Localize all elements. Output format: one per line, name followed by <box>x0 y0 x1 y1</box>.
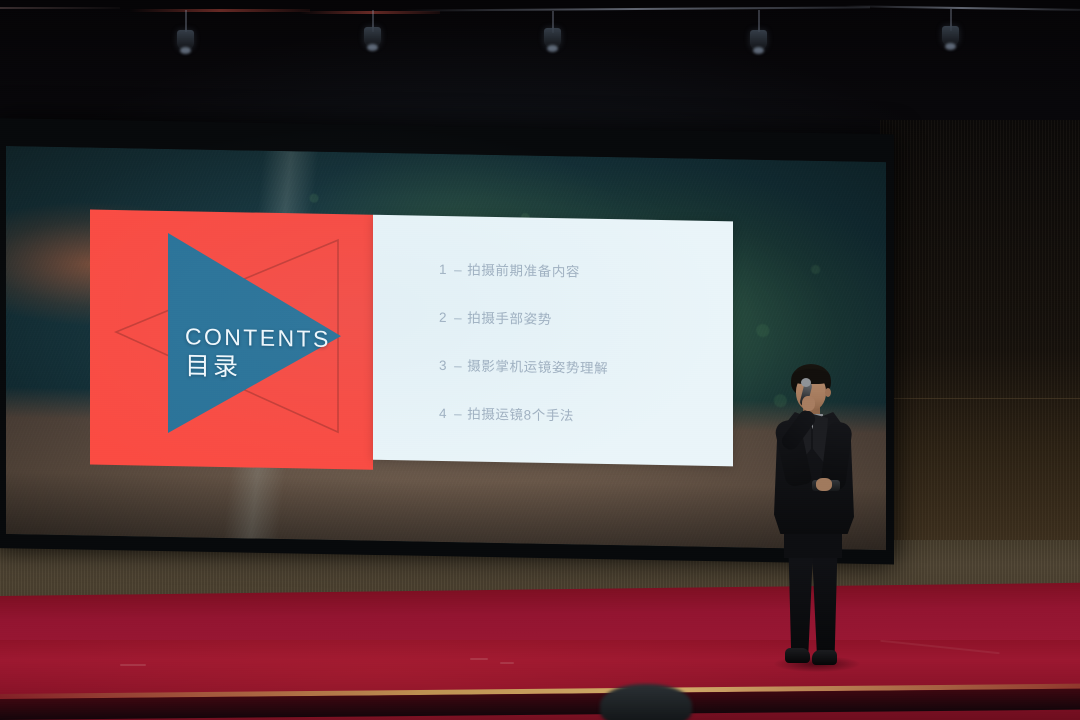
toc-item-label: 拍摄运镜8个手法 <box>467 406 574 423</box>
toc-item: 2–拍摄手部姿势 <box>439 306 719 331</box>
toc-item-dash: – <box>454 358 462 373</box>
right-wall-wood-panel <box>880 120 1080 540</box>
floor-scuff-2 <box>470 658 488 660</box>
spotlight-icon-3 <box>544 28 561 48</box>
spotlight-icon-4 <box>750 30 767 50</box>
wall-seam-line <box>880 398 1080 399</box>
presenter-shoe-right <box>812 650 837 665</box>
toc-item-label: 拍摄手部姿势 <box>467 310 552 327</box>
floor-scuff-3 <box>500 662 514 664</box>
toc-item: 3–摄影掌机运镜姿势理解 <box>439 354 719 379</box>
audience-head-silhouette <box>600 684 692 720</box>
microphone-head-icon <box>801 378 811 387</box>
toc-item-number: 1 <box>439 262 447 277</box>
spotlight-icon-5 <box>942 26 959 46</box>
stage-photo-scene: CONTENTS 目录 1–拍摄前期准备内容 2–拍摄手部姿势 3–摄影掌机运镜… <box>0 0 1080 720</box>
toc-item-dash: – <box>454 310 462 325</box>
toc-item: 1–拍摄前期准备内容 <box>439 258 719 283</box>
presenter-hair-front <box>792 369 830 384</box>
toc-item-dash: – <box>454 406 462 421</box>
toc-item-number: 4 <box>439 406 447 421</box>
toc-item-dash: – <box>454 262 462 277</box>
slide-title-panel: CONTENTS 目录 <box>90 210 373 470</box>
toc-item-label: 摄影掌机运镜姿势理解 <box>467 358 608 376</box>
lamp-stem-4 <box>758 10 760 32</box>
toc-item-number: 3 <box>439 358 447 373</box>
presenter-leg-left <box>787 552 813 654</box>
floor-scuff-1 <box>120 664 146 666</box>
lighting-truss <box>0 0 1080 58</box>
slide-contents-panel: 1–拍摄前期准备内容 2–拍摄手部姿势 3–摄影掌机运镜姿势理解 4–拍摄运镜8… <box>373 215 733 467</box>
spotlight-icon-1 <box>177 30 194 50</box>
presenter-leg-right <box>812 552 839 654</box>
truss-bar-center <box>400 6 870 11</box>
presenter-figure <box>760 364 870 680</box>
presenter-shoe-left <box>785 648 810 663</box>
toc-item-label: 拍摄前期准备内容 <box>467 262 580 279</box>
toc-item-number: 2 <box>439 310 447 325</box>
toc-item: 4–拍摄运镜8个手法 <box>439 402 719 427</box>
truss-bar-right <box>845 5 1080 11</box>
lamp-stem-1 <box>185 10 187 32</box>
truss-red-bar-1 <box>130 9 310 12</box>
toc-list: 1–拍摄前期准备内容 2–拍摄手部姿势 3–摄影掌机运镜姿势理解 4–拍摄运镜8… <box>439 258 719 455</box>
presenter-hand-left <box>802 396 815 411</box>
spotlight-icon-2 <box>364 27 381 47</box>
projection-screen-surface[interactable]: CONTENTS 目录 1–拍摄前期准备内容 2–拍摄手部姿势 3–摄影掌机运镜… <box>6 146 886 550</box>
presenter-ear <box>825 388 831 397</box>
floor-scuff-4 <box>880 640 999 654</box>
play-triangle-icon <box>168 233 341 436</box>
presenter-hand-right <box>816 478 832 491</box>
truss-bar-left <box>0 7 120 9</box>
